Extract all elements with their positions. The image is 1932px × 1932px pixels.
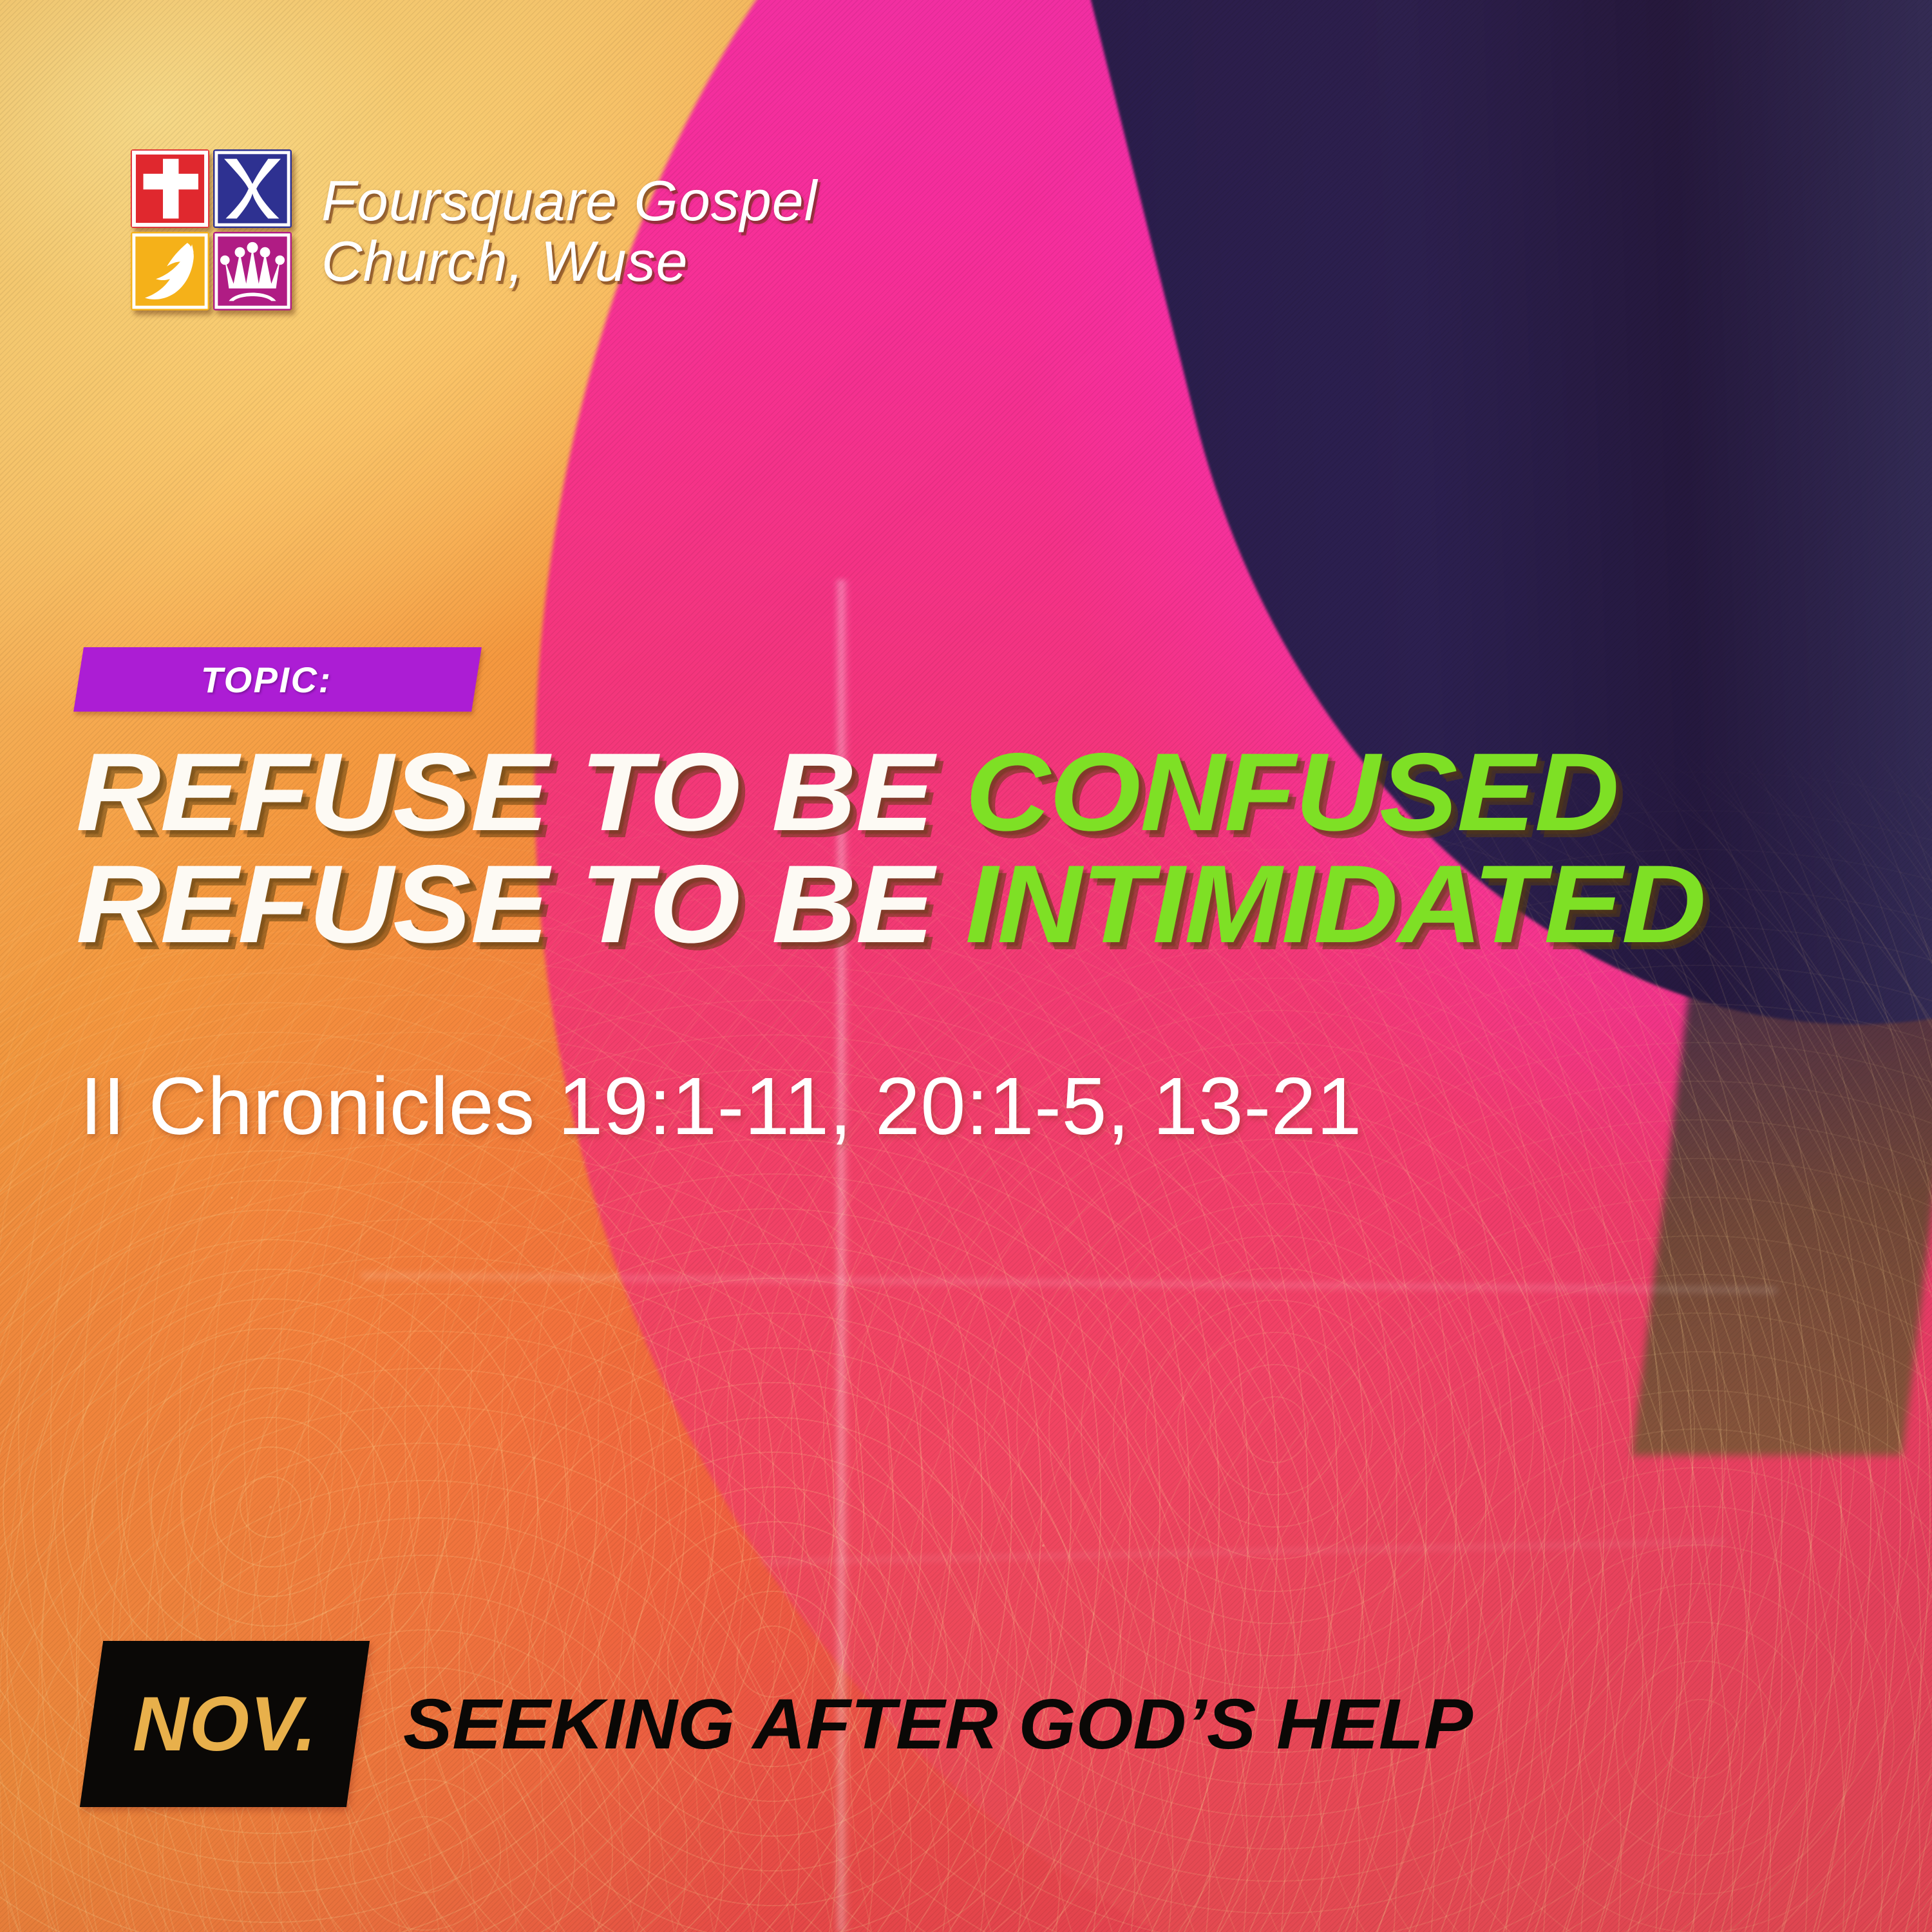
cross-icon xyxy=(131,149,209,228)
footer-row: NOV. SEEKING AFTER GOD’S HELP xyxy=(91,1641,1432,1807)
dove-cup-icon xyxy=(213,149,292,228)
scripture-reference: II Chronicles 19:1-11, 20:1-5, 13-21 xyxy=(80,1059,1362,1153)
headline-line-2-plain: REFUSE TO BE xyxy=(76,842,965,966)
foursquare-logo-mark xyxy=(131,149,292,310)
headline-line-2-accent: INTIMIDATED xyxy=(965,842,1706,966)
headline-block: REFUSE TO BE CONFUSED REFUSE TO BE INTIM… xyxy=(76,739,1873,963)
flame-dove-icon xyxy=(131,232,209,310)
headline-line-1-plain: REFUSE TO BE xyxy=(76,730,965,854)
topic-badge: TOPIC: xyxy=(73,647,482,712)
headline-line-2: REFUSE TO BE INTIMIDATED xyxy=(76,851,1932,958)
series-tagline: SEEKING AFTER GOD’S HELP xyxy=(403,1683,1473,1765)
church-name: Foursquare Gospel Church, Wuse xyxy=(321,168,817,292)
topic-badge-label: TOPIC: xyxy=(79,659,332,701)
church-logo-block: Foursquare Gospel Church, Wuse xyxy=(131,149,817,310)
month-label: NOV. xyxy=(133,1680,317,1768)
sermon-flyer-poster: Foursquare Gospel Church, Wuse TOPIC: RE… xyxy=(0,0,1932,1932)
headline-line-1-accent: CONFUSED xyxy=(965,730,1619,854)
month-badge: NOV. xyxy=(80,1641,370,1807)
headline-line-1: REFUSE TO BE CONFUSED xyxy=(76,739,1932,846)
crown-icon xyxy=(213,232,292,310)
